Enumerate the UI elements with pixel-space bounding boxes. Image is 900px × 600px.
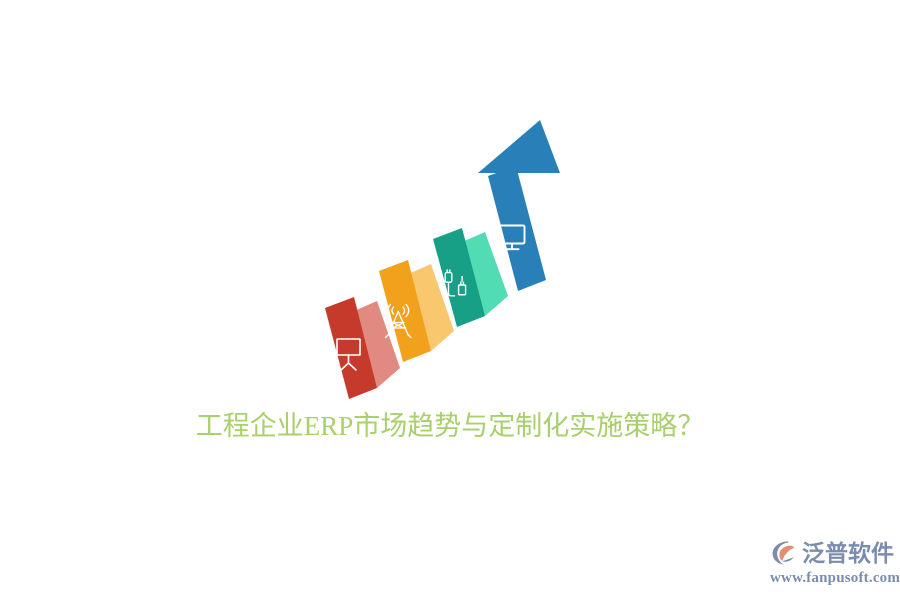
arrowhead-blue (478, 120, 560, 173)
brand-name: 泛普软件 (802, 538, 894, 568)
brand-watermark: 泛普软件 www.fanpusoft.com (770, 536, 895, 592)
brand-url: www.fanpusoft.com (770, 569, 895, 587)
page-title: 工程企业ERP市场趋势与定制化实施策略？ (0, 409, 900, 443)
fanpu-logo-icon (770, 538, 800, 568)
ascending-growth-arrow-graphic (300, 100, 600, 420)
brand-logo-row: 泛普软件 (770, 536, 895, 570)
canvas: 工程企业ERP市场趋势与定制化实施策略？ 泛普软件 www.fanpusoft.… (0, 0, 900, 600)
